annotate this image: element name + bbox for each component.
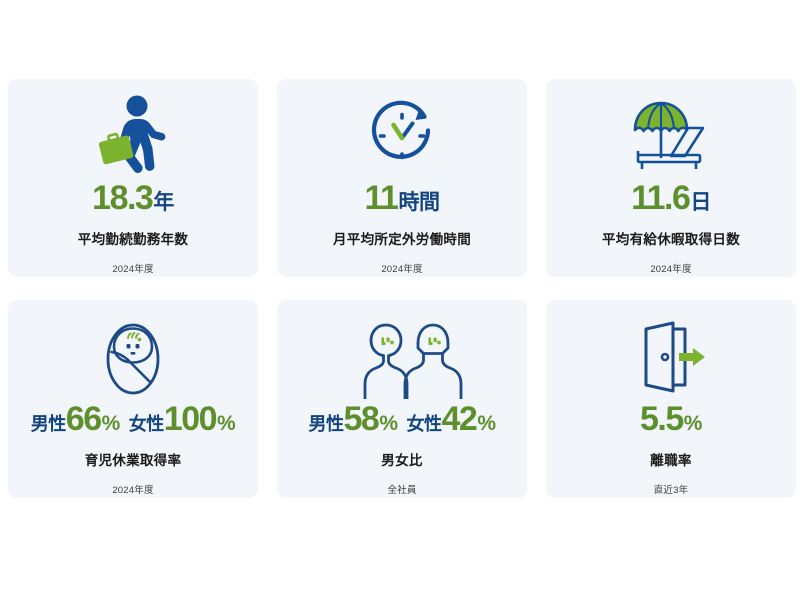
stat-note: 2024年度: [381, 261, 422, 275]
stat-unit: 日: [690, 192, 711, 213]
stat-label: 育児休業取得率: [85, 449, 182, 469]
stat-value: 男性58%女性42%: [308, 402, 495, 436]
stat-value: 11.6日: [631, 181, 711, 215]
female-number: 42: [442, 402, 477, 436]
stat-number: 11.6: [631, 181, 689, 215]
stat-label: 平均勤続勤務年数: [78, 228, 188, 248]
male-label: 男性: [31, 415, 66, 433]
female-unit: %: [217, 413, 235, 434]
stats-grid: 18.3年 平均勤続勤務年数 2024年度 11時間 月平均所定外労働: [8, 79, 796, 498]
stat-card-gender-ratio: 男性58%女性42% 男女比 全社員: [277, 300, 527, 498]
walking-person-with-briefcase-icon: [96, 93, 170, 179]
stat-note: 全社員: [387, 482, 416, 496]
stat-unit: 年: [153, 192, 174, 213]
stat-value: 男性66%女性100%: [31, 402, 235, 436]
female-number: 100: [164, 402, 216, 436]
stat-number: 5.5: [640, 402, 683, 436]
swaddled-baby-icon: [97, 314, 169, 400]
female-label: 女性: [129, 415, 164, 433]
stat-value: 5.5%: [640, 402, 702, 436]
stat-label: 男女比: [381, 449, 422, 469]
stat-number: 18.3: [92, 181, 152, 215]
stat-number: 11: [365, 181, 398, 215]
stat-card-monthly-overtime: 11時間 月平均所定外労働時間 2024年度: [277, 79, 527, 277]
stat-note: 2024年度: [112, 482, 153, 496]
stat-unit: 時間: [398, 192, 439, 213]
stat-label: 月平均所定外労働時間: [333, 228, 471, 248]
clock-icon: [362, 93, 442, 179]
beach-umbrella-lounger-icon: [625, 93, 717, 179]
stat-note: 2024年度: [112, 261, 153, 275]
open-door-exit-arrow-icon: [630, 314, 712, 400]
stat-note: 直近3年: [654, 482, 689, 496]
stat-value: 18.3年: [92, 181, 174, 215]
stat-label: 平均有給休暇取得日数: [602, 228, 740, 248]
stat-card-turnover-rate: 5.5% 離職率 直近3年: [546, 300, 796, 498]
stat-unit: %: [684, 413, 702, 434]
stat-card-childcare-leave-rate: 男性66%女性100% 育児休業取得率 2024年度: [8, 300, 258, 498]
male-number: 58: [343, 402, 378, 436]
male-unit: %: [379, 413, 397, 434]
male-unit: %: [102, 413, 120, 434]
stat-note: 2024年度: [650, 261, 691, 275]
male-label: 男性: [308, 415, 343, 433]
male-number: 66: [66, 402, 101, 436]
stat-value: 11時間: [365, 181, 440, 215]
stat-label: 離職率: [650, 449, 691, 469]
female-unit: %: [477, 413, 495, 434]
stat-card-average-tenure: 18.3年 平均勤続勤務年数 2024年度: [8, 79, 258, 277]
man-and-woman-icon: [339, 314, 465, 400]
female-label: 女性: [407, 415, 442, 433]
stat-card-paid-leave-days: 11.6日 平均有給休暇取得日数 2024年度: [546, 79, 796, 277]
